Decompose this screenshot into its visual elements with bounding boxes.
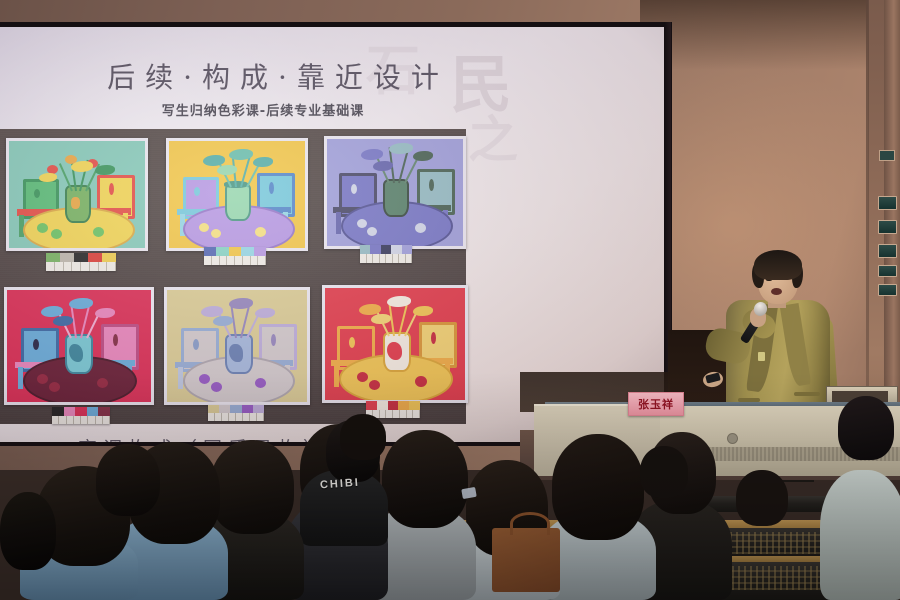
podium-knob[interactable]: [728, 434, 737, 443]
audience-head: [552, 434, 644, 540]
wall-panel-icon: [879, 150, 895, 161]
ceiling-shadow: [640, 0, 900, 70]
screen-top-edge: [0, 22, 672, 27]
handbag: [492, 528, 560, 592]
wall-panel-icon: [878, 220, 897, 234]
speaker-hair: [754, 250, 802, 280]
wall-panel-icon: [878, 244, 897, 258]
name-placard-text: 张玉祥: [638, 396, 674, 412]
wall-panel-icon: [878, 265, 897, 277]
wall-signage-panels: [876, 196, 898, 306]
audience-body: [820, 470, 900, 600]
speaker-mouth: [771, 288, 782, 295]
audience-head: [838, 396, 894, 460]
audience-head: [382, 430, 468, 528]
lecture-hall-photo: 民 石 之 后续·构成·靠近设计 写生归纳色彩课-后续专业基础课: [0, 0, 900, 600]
wall-panel-icon: [878, 196, 897, 210]
audience-head: [0, 492, 56, 570]
audience-head: [640, 446, 688, 498]
audience-head: [736, 470, 788, 526]
speaker-pocket: [794, 392, 820, 396]
audience-head: [340, 414, 386, 460]
name-placard: 张玉祥: [628, 392, 684, 416]
audience-head: [210, 440, 294, 534]
handbag-handle: [510, 512, 550, 535]
wall-panel-icon: [878, 284, 897, 296]
audience-head: [96, 444, 160, 516]
speaker-badge: [758, 352, 765, 361]
